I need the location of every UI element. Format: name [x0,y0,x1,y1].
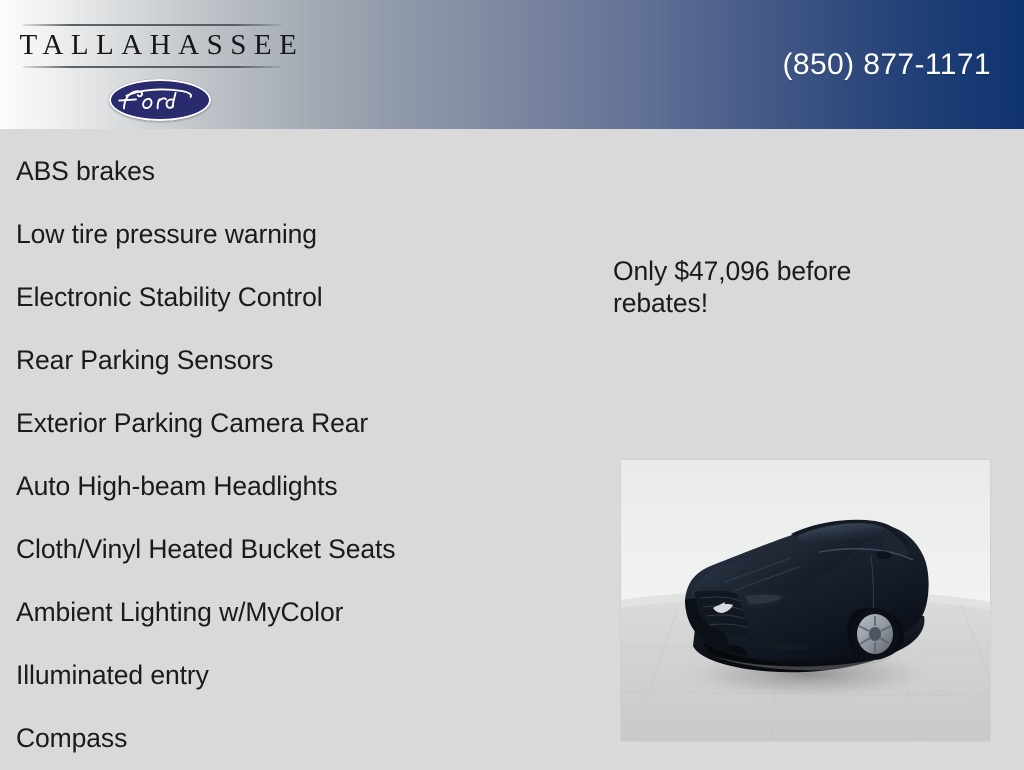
list-item: ABS brakes [16,140,576,203]
vehicle-photo [621,460,990,741]
dealership-city-wordmark: TALLAHASSEE [12,28,290,62]
vehicle-feature-list: ABS brakes Low tire pressure warning Ele… [16,140,576,770]
header-banner: TALLAHASSEE [0,0,1024,129]
list-item: Electronic Stability Control [16,266,576,329]
list-item: Compass [16,707,576,770]
list-item: Rear Parking Sensors [16,329,576,392]
logo-rule-bottom [23,66,281,68]
dealer-feature-slide: TALLAHASSEE [0,0,1024,768]
list-item: Cloth/Vinyl Heated Bucket Seats [16,518,576,581]
logo-rule-top [23,24,281,26]
list-item: Ambient Lighting w/MyColor [16,581,576,644]
dealership-logo[interactable]: TALLAHASSEE [12,8,290,120]
list-item: Illuminated entry [16,644,576,707]
ford-oval-logo-icon [109,79,211,121]
list-item: Low tire pressure warning [16,203,576,266]
price-callout: Only $47,096 before rebates! [613,255,943,319]
list-item: Exterior Parking Camera Rear [16,392,576,455]
list-item: Auto High-beam Headlights [16,455,576,518]
slide-content: ABS brakes Low tire pressure warning Ele… [0,129,1024,768]
dealership-phone-number[interactable]: (850) 877-1171 [782,48,991,82]
